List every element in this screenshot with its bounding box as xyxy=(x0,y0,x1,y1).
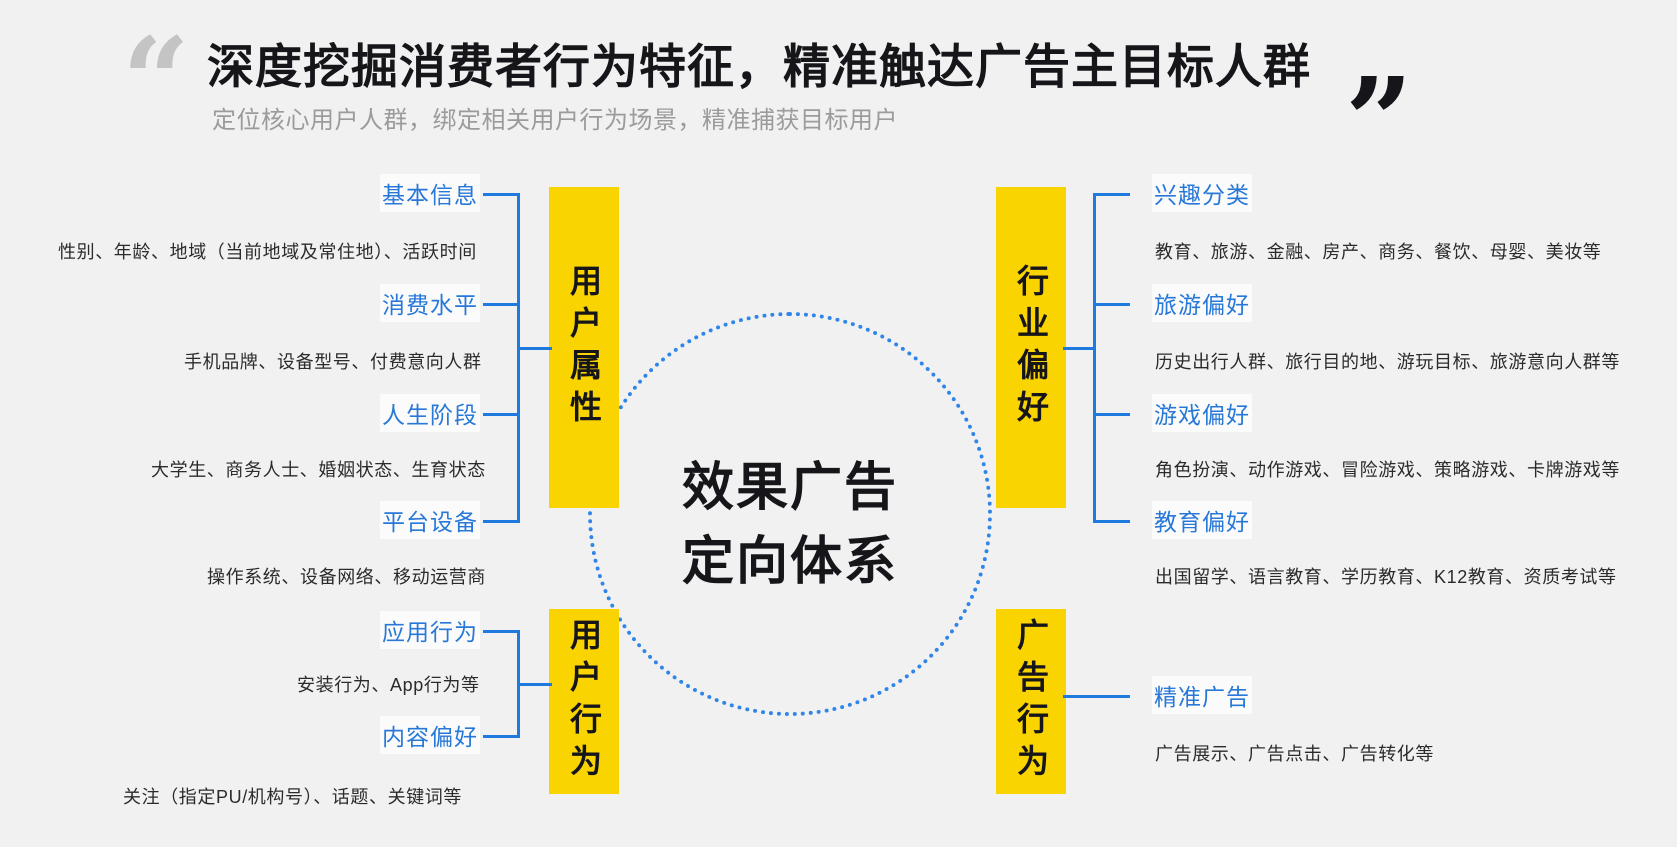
label-platform-device[interactable]: 平台设备 xyxy=(380,501,480,539)
label-basic-info-text: 基本信息 xyxy=(382,176,478,210)
label-game-preference[interactable]: 游戏偏好 xyxy=(1152,394,1252,432)
pillar-industry-preference-label: 行业偏好 xyxy=(1015,264,1047,432)
center-title-line-1: 效果广告 xyxy=(640,452,940,526)
connector-left-platform-device xyxy=(483,520,520,523)
connector-right-travel-preference xyxy=(1093,303,1130,306)
connector-right-education-preference xyxy=(1093,520,1130,523)
desc-travel-preference: 历史出行人群、旅行目的地、游玩目标、旅游意向人群等 xyxy=(1155,348,1620,374)
label-life-stage[interactable]: 人生阶段 xyxy=(380,394,480,432)
pillar-ad-behavior[interactable]: 广告行为 xyxy=(996,609,1066,794)
label-interest-category[interactable]: 兴趣分类 xyxy=(1152,174,1252,212)
label-game-preference-text: 游戏偏好 xyxy=(1154,396,1250,430)
page-subtitle: 定位核心用户人群，绑定相关用户行为场景，精准捕获目标用户 xyxy=(212,100,898,135)
desc-content-preference: 关注（指定PU/机构号）、话题、关键词等 xyxy=(123,783,462,809)
label-consumption-level[interactable]: 消费水平 xyxy=(380,284,480,322)
connector-left-attributes-to-pillar xyxy=(517,347,552,350)
connector-right-precision-ad xyxy=(1063,695,1130,698)
label-travel-preference[interactable]: 旅游偏好 xyxy=(1152,284,1252,322)
desc-precision-ad: 广告展示、广告点击、广告转化等 xyxy=(1155,740,1434,766)
label-education-preference[interactable]: 教育偏好 xyxy=(1152,501,1252,539)
center-title: 效果广告 定向体系 xyxy=(640,452,940,600)
desc-basic-info: 性别、年龄、地域（当前地域及常住地）、活跃时间 xyxy=(58,238,477,264)
label-app-behavior-text: 应用行为 xyxy=(382,613,478,647)
desc-interest-category: 教育、旅游、金融、房产、商务、餐饮、母婴、美妆等 xyxy=(1155,238,1601,264)
connector-right-industry-spine xyxy=(1093,193,1096,523)
desc-life-stage: 大学生、商务人士、婚姻状态、生育状态 xyxy=(151,456,486,482)
label-platform-device-text: 平台设备 xyxy=(382,503,478,537)
page-title: 深度挖掘消费者行为特征，精准触达广告主目标人群 xyxy=(207,28,1311,97)
pillar-user-behavior-label: 用户行为 xyxy=(568,618,600,786)
connector-left-attributes-spine xyxy=(517,193,520,523)
label-education-preference-text: 教育偏好 xyxy=(1154,503,1250,537)
connector-left-app-behavior xyxy=(483,630,520,633)
connector-right-interest-category xyxy=(1093,193,1130,196)
label-interest-category-text: 兴趣分类 xyxy=(1154,176,1250,210)
label-precision-ad[interactable]: 精准广告 xyxy=(1152,676,1252,714)
connector-left-behavior-to-pillar xyxy=(517,683,552,686)
desc-consumption-level: 手机品牌、设备型号、付费意向人群 xyxy=(184,348,482,374)
desc-game-preference: 角色扮演、动作游戏、冒险游戏、策略游戏、卡牌游戏等 xyxy=(1155,456,1620,482)
label-content-preference-text: 内容偏好 xyxy=(382,718,478,752)
connector-left-consumption xyxy=(483,303,520,306)
pillar-user-attributes-label: 用户属性 xyxy=(568,264,600,432)
label-consumption-level-text: 消费水平 xyxy=(382,286,478,320)
label-precision-ad-text: 精准广告 xyxy=(1154,678,1250,712)
pillar-user-attributes[interactable]: 用户属性 xyxy=(549,187,619,508)
center-title-line-2: 定向体系 xyxy=(640,526,940,600)
close-quote-icon: ” xyxy=(1345,62,1407,180)
open-quote-icon: “ xyxy=(122,22,184,140)
pillar-ad-behavior-label: 广告行为 xyxy=(1015,618,1047,786)
desc-app-behavior: 安装行为、App行为等 xyxy=(297,671,480,697)
diagram-canvas: “ 深度挖掘消费者行为特征，精准触达广告主目标人群 定位核心用户人群，绑定相关用… xyxy=(0,0,1677,847)
label-basic-info[interactable]: 基本信息 xyxy=(380,174,480,212)
connector-right-industry-to-pillar xyxy=(1063,347,1096,350)
desc-education-preference: 出国留学、语言教育、学历教育、K12教育、资质考试等 xyxy=(1155,563,1617,589)
desc-platform-device: 操作系统、设备网络、移动运营商 xyxy=(207,563,486,589)
connector-left-basic-info xyxy=(483,193,520,196)
label-app-behavior[interactable]: 应用行为 xyxy=(380,611,480,649)
connector-right-game-preference xyxy=(1093,413,1130,416)
pillar-user-behavior[interactable]: 用户行为 xyxy=(549,609,619,794)
connector-left-content-preference xyxy=(483,735,520,738)
connector-left-life-stage xyxy=(483,413,520,416)
label-content-preference[interactable]: 内容偏好 xyxy=(380,716,480,754)
label-travel-preference-text: 旅游偏好 xyxy=(1154,286,1250,320)
label-life-stage-text: 人生阶段 xyxy=(382,396,478,430)
pillar-industry-preference[interactable]: 行业偏好 xyxy=(996,187,1066,508)
